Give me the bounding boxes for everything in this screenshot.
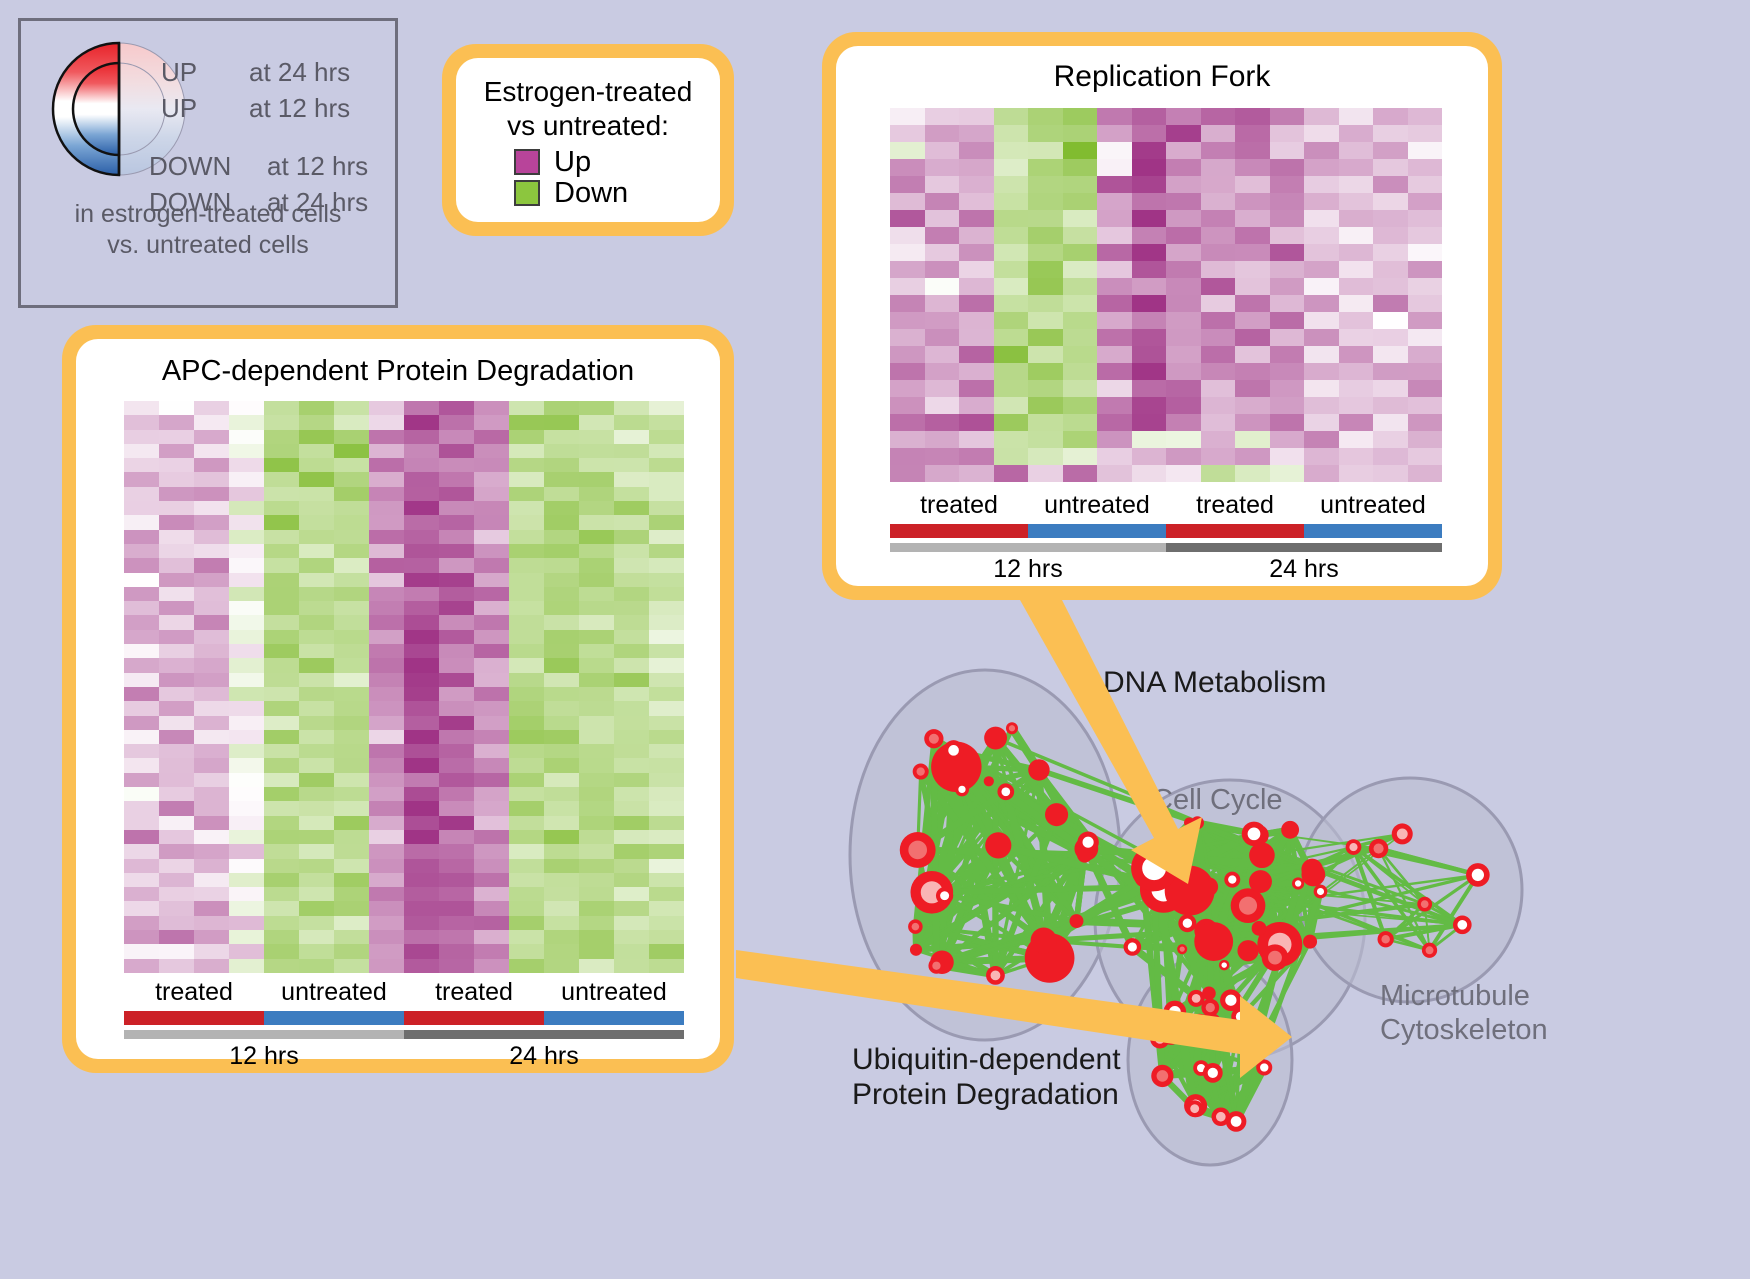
network-node-core (1239, 897, 1257, 915)
heatmap-cell (1166, 142, 1201, 159)
heatmap-cell (579, 544, 614, 558)
heatmap-cell (439, 615, 474, 629)
heatmap-cell (1166, 193, 1201, 210)
heatmap-cell (1166, 346, 1201, 363)
heatmap-cell (1063, 295, 1098, 312)
heatmap-cell (124, 573, 159, 587)
heatmap-cell (614, 744, 649, 758)
heatmap-cell (925, 465, 960, 482)
heatmap-cell (194, 744, 229, 758)
column-group-label: treated (404, 979, 544, 1007)
heatmap-cell (194, 758, 229, 772)
heatmap-cell (544, 930, 579, 944)
network-node[interactable] (984, 727, 1007, 750)
treatment-bar-segment (124, 1011, 264, 1025)
heatmap-cell (925, 346, 960, 363)
heatmap-cell (124, 644, 159, 658)
heatmap-cell (1063, 414, 1098, 431)
heatmap-cell (1373, 108, 1408, 125)
heatmap-cell (1063, 465, 1098, 482)
heatmap-cell (334, 873, 369, 887)
heatmap-cell (299, 930, 334, 944)
network-node[interactable] (1237, 940, 1258, 961)
heatmap-cell (579, 730, 614, 744)
heatmap-cell (159, 887, 194, 901)
heatmap-cell (649, 787, 684, 801)
heatmap-cell (439, 573, 474, 587)
heatmap-cell (369, 458, 404, 472)
heatmap-cell (334, 430, 369, 444)
heatmap-cell (264, 401, 299, 415)
heatmap-cell (404, 816, 439, 830)
heatmap-cell (439, 859, 474, 873)
heatmap-cell (544, 487, 579, 501)
color-key-box: UP at 24 hrs UP at 12 hrs DOWN at 12 hrs… (18, 18, 398, 308)
heatmap-cell (1201, 244, 1236, 261)
network-node[interactable] (1028, 759, 1049, 780)
heatmap-cell (1063, 431, 1098, 448)
heatmap-cell (994, 414, 1029, 431)
heatmap-cell (334, 615, 369, 629)
heatmap-cell (579, 701, 614, 715)
heatmap-cell (1063, 108, 1098, 125)
heatmap-cell (614, 573, 649, 587)
network-node-core (1190, 1104, 1199, 1113)
heatmap-cell (194, 444, 229, 458)
time-bar-segment (404, 1030, 684, 1039)
heatmap-cell (299, 959, 334, 973)
heatmap-cell (439, 658, 474, 672)
heatmap-cell (299, 701, 334, 715)
network-node[interactable] (910, 944, 922, 956)
heatmap-cell (890, 108, 925, 125)
heatmap-cell (544, 801, 579, 815)
heatmap-cell (1270, 227, 1305, 244)
heatmap-cell (1201, 329, 1236, 346)
heatmap-cell (1028, 448, 1063, 465)
heatmap-cell (1235, 465, 1270, 482)
heatmap-cell (334, 859, 369, 873)
heatmap-cell (334, 401, 369, 415)
heatmap-cell (890, 312, 925, 329)
heatmap-cell (959, 108, 994, 125)
heatmap-cell (369, 444, 404, 458)
heatmap-cell (369, 916, 404, 930)
heatmap-cell (229, 501, 264, 515)
heatmap-cell (404, 644, 439, 658)
heatmap-cell (509, 515, 544, 529)
network-node[interactable] (1281, 821, 1299, 839)
heatmap-cell (509, 487, 544, 501)
heatmap-cell (1373, 227, 1408, 244)
heatmap-cell (649, 515, 684, 529)
treatment-bar-segment (1028, 524, 1166, 538)
heatmap-cell (229, 430, 264, 444)
network-node[interactable] (1069, 914, 1083, 928)
heatmap-cell (299, 873, 334, 887)
heatmap-cell (334, 658, 369, 672)
heatmap-cell (474, 901, 509, 915)
network-node[interactable] (1249, 842, 1275, 868)
heatmap-cell (579, 930, 614, 944)
heatmap-cell (474, 458, 509, 472)
network-node[interactable] (985, 832, 1011, 858)
heatmap-cell (369, 430, 404, 444)
heatmap-cell (614, 773, 649, 787)
heatmap-cell (264, 515, 299, 529)
heatmap-cell (994, 397, 1029, 414)
heatmap-cell (369, 787, 404, 801)
heatmap-cell (1132, 142, 1167, 159)
heatmap-cell (1408, 210, 1443, 227)
heatmap-cell (1270, 448, 1305, 465)
heatmap-cell (614, 458, 649, 472)
heatmap-cell (890, 125, 925, 142)
heatmap-cell (544, 430, 579, 444)
heatmap-cell (649, 901, 684, 915)
heatmap-cell (1132, 125, 1167, 142)
heatmap-cell (994, 295, 1029, 312)
heatmap-cell (509, 844, 544, 858)
heatmap-cell (890, 244, 925, 261)
heatmap-cell (264, 644, 299, 658)
heatmap-cell (159, 658, 194, 672)
heatmap-cell (194, 587, 229, 601)
heatmap-cell (1063, 380, 1098, 397)
heatmap-cell (614, 730, 649, 744)
heatmap-cell (264, 887, 299, 901)
heatmap-cell (890, 227, 925, 244)
network-node-core (1001, 787, 1010, 796)
heatmap-cell (369, 587, 404, 601)
heatmap-cell (994, 210, 1029, 227)
heatmap-cell (579, 830, 614, 844)
heatmap-cell (1063, 176, 1098, 193)
heatmap-cell (439, 701, 474, 715)
heatmap-cell (579, 644, 614, 658)
heatmap-cell (509, 716, 544, 730)
heatmap-cell (959, 380, 994, 397)
heatmap-cell (404, 587, 439, 601)
heatmap-cell (474, 673, 509, 687)
network-node[interactable] (1303, 935, 1317, 949)
heatmap-cell (1270, 193, 1305, 210)
heatmap-cell (509, 530, 544, 544)
heatmap-cell (264, 959, 299, 973)
heatmap-cell (959, 244, 994, 261)
heatmap-cell (1201, 397, 1236, 414)
heatmap-cell (1408, 329, 1443, 346)
heatmap-cell (1408, 108, 1443, 125)
heatmap-cell (264, 730, 299, 744)
heatmap-cell (334, 944, 369, 958)
heatmap-cell (1235, 142, 1270, 159)
heatmap-cell (925, 261, 960, 278)
heatmap-cell (579, 916, 614, 930)
heatmap-cell (299, 859, 334, 873)
network-node[interactable] (1045, 803, 1068, 826)
heatmap-cell (1132, 312, 1167, 329)
heatmap-cell (1097, 210, 1132, 227)
heatmap-cell (544, 716, 579, 730)
heatmap-cell (1235, 363, 1270, 380)
heatmap-cell (194, 859, 229, 873)
heatmap-cell (1132, 295, 1167, 312)
heatmap-cell (229, 444, 264, 458)
heatmap-cell (1270, 329, 1305, 346)
network-node[interactable] (1252, 921, 1267, 936)
heatmap-cell (649, 687, 684, 701)
heatmap-cell (1304, 397, 1339, 414)
heatmap-cell (1339, 295, 1374, 312)
heatmap-cell (959, 227, 994, 244)
heatmap-cell (194, 687, 229, 701)
heatmap-cell (544, 401, 579, 415)
heatmap-cell (334, 558, 369, 572)
key-word-down-12: DOWN (149, 151, 231, 182)
heatmap-cell (614, 630, 649, 644)
heatmap-cell (994, 329, 1029, 346)
heatmap-cell (194, 887, 229, 901)
treatment-color-bar (124, 1011, 684, 1025)
network-node[interactable] (1301, 859, 1322, 880)
heatmap-cell (1235, 346, 1270, 363)
heatmap-cell (614, 930, 649, 944)
heatmap-cell (1339, 142, 1374, 159)
heatmap-cell (159, 415, 194, 429)
heatmap-cell (1373, 363, 1408, 380)
heatmap-cell (369, 630, 404, 644)
heatmap-cell (649, 801, 684, 815)
network-node[interactable] (1031, 927, 1057, 953)
heatmap-cell (334, 701, 369, 715)
heatmap-cell (1235, 414, 1270, 431)
heatmap-cell (159, 615, 194, 629)
heatmap-cell (544, 830, 579, 844)
heatmap-cell (439, 959, 474, 973)
heatmap-cell (1132, 278, 1167, 295)
heatmap-cell (369, 515, 404, 529)
heatmap-cell (579, 716, 614, 730)
heatmap-cell (1408, 227, 1443, 244)
figure-stage: UP at 24 hrs UP at 12 hrs DOWN at 12 hrs… (0, 0, 1750, 1279)
heatmap-cell (264, 701, 299, 715)
heatmap-cell (404, 730, 439, 744)
heatmap-cell (159, 701, 194, 715)
heatmap-cell (649, 573, 684, 587)
color-key-footer: in estrogen-treated cells vs. untreated … (21, 199, 395, 262)
heatmap-cell (1132, 210, 1167, 227)
heatmap-cell (614, 830, 649, 844)
heatmap-cell (124, 530, 159, 544)
replication-fork-heatmap (890, 108, 1442, 482)
network-node-core (1157, 1070, 1169, 1082)
heatmap-cell (124, 816, 159, 830)
column-group-label: treated (890, 492, 1028, 520)
network-node-core (1317, 888, 1324, 895)
key-word-up-24: UP (161, 57, 197, 88)
heatmap-cell (159, 730, 194, 744)
heatmap-cell (925, 193, 960, 210)
heatmap-cell (229, 901, 264, 915)
heatmap-cell (1339, 159, 1374, 176)
heatmap-cell (1132, 108, 1167, 125)
heatmap-cell (1408, 176, 1443, 193)
network-node[interactable] (1249, 870, 1272, 893)
heatmap-cell (439, 601, 474, 615)
heatmap-cell (474, 615, 509, 629)
heatmap-cell (614, 615, 649, 629)
heatmap-cell (1028, 431, 1063, 448)
network-node-core (1268, 951, 1282, 965)
key-time-down-12: at 12 hrs (267, 151, 368, 182)
heatmap-cell (1235, 295, 1270, 312)
heatmap-cell (474, 716, 509, 730)
network-node-core (1231, 1116, 1242, 1127)
heatmap-cell (124, 487, 159, 501)
column-group-label: treated (124, 979, 264, 1007)
heatmap-cell (994, 431, 1029, 448)
heatmap-cell (579, 601, 614, 615)
heatmap-cell (194, 430, 229, 444)
heatmap-cell (404, 430, 439, 444)
heatmap-cell (369, 615, 404, 629)
heatmap-cell (264, 816, 299, 830)
heatmap-cell (124, 673, 159, 687)
heatmap-cell (439, 930, 474, 944)
time-bar-segment (1166, 543, 1442, 552)
heatmap-cell (124, 430, 159, 444)
network-node[interactable] (1191, 816, 1204, 829)
heatmap-cell (579, 658, 614, 672)
pathway-network-graph (770, 600, 1750, 1279)
heatmap-cell (439, 816, 474, 830)
heatmap-cell (614, 859, 649, 873)
network-node-core (940, 891, 949, 900)
network-node-core (1225, 995, 1236, 1006)
heatmap-cell (544, 701, 579, 715)
heatmap-cell (474, 687, 509, 701)
heatmap-cell (649, 430, 684, 444)
replication-fork-title: Replication Fork (836, 46, 1488, 104)
heatmap-cell (1235, 261, 1270, 278)
heatmap-cell (544, 458, 579, 472)
network-node-core (929, 734, 939, 744)
heatmap-cell (509, 587, 544, 601)
heatmap-cell (299, 630, 334, 644)
heatmap-cell (299, 544, 334, 558)
heatmap-cell (1339, 448, 1374, 465)
heatmap-cell (544, 444, 579, 458)
heatmap-cell (994, 244, 1029, 261)
heatmap-cell (229, 601, 264, 615)
heatmap-cell (890, 448, 925, 465)
heatmap-cell (229, 887, 264, 901)
heatmap-cell (959, 363, 994, 380)
heatmap-cell (1373, 278, 1408, 295)
heatmap-cell (439, 887, 474, 901)
heatmap-cell (369, 573, 404, 587)
heatmap-cell (1270, 431, 1305, 448)
heatmap-cell (299, 916, 334, 930)
heatmap-cell (1132, 329, 1167, 346)
heatmap-cell (194, 515, 229, 529)
heatmap-cell (299, 587, 334, 601)
heatmap-cell (544, 859, 579, 873)
heatmap-cell (890, 261, 925, 278)
heatmap-cell (1235, 329, 1270, 346)
heatmap-cell (299, 944, 334, 958)
heatmap-cell (1097, 312, 1132, 329)
heatmap-cell (334, 630, 369, 644)
heatmap-cell (579, 487, 614, 501)
heatmap-cell (649, 458, 684, 472)
heatmap-cell (194, 787, 229, 801)
heatmap-cell (1339, 176, 1374, 193)
heatmap-cell (334, 787, 369, 801)
heatmap-cell (404, 401, 439, 415)
heatmap-cell (1373, 465, 1408, 482)
heatmap-cell (124, 959, 159, 973)
network-node[interactable] (984, 776, 994, 786)
heatmap-cell (579, 515, 614, 529)
heatmap-cell (509, 701, 544, 715)
heatmap-cell (1304, 210, 1339, 227)
heatmap-cell (994, 159, 1029, 176)
heatmap-cell (194, 959, 229, 973)
heatmap-cell (890, 397, 925, 414)
heatmap-cell (1201, 159, 1236, 176)
heatmap-cell (194, 930, 229, 944)
heatmap-cell (1270, 159, 1305, 176)
heatmap-cell (1132, 159, 1167, 176)
key-time-up-12: at 12 hrs (249, 93, 350, 124)
heatmap-cell (124, 601, 159, 615)
heatmap-cell (194, 615, 229, 629)
heatmap-cell (474, 701, 509, 715)
heatmap-cell (404, 530, 439, 544)
heatmap-cell (229, 758, 264, 772)
heatmap-cell (124, 873, 159, 887)
heatmap-cell (439, 901, 474, 915)
legend-label-down: Down (554, 179, 628, 208)
heatmap-cell (124, 444, 159, 458)
heatmap-cell (1304, 295, 1339, 312)
treatment-bar-segment (544, 1011, 684, 1025)
heatmap-cell (264, 873, 299, 887)
heatmap-cell (194, 558, 229, 572)
heatmap-cell (1235, 210, 1270, 227)
heatmap-cell (1132, 448, 1167, 465)
color-key-footer-line2: vs. untreated cells (21, 230, 395, 261)
network-node[interactable] (1194, 922, 1233, 961)
heatmap-cell (404, 472, 439, 486)
heatmap-cell (1270, 261, 1305, 278)
heatmap-cell (299, 801, 334, 815)
heatmap-cell (925, 380, 960, 397)
heatmap-cell (404, 687, 439, 701)
network-node-core (1180, 947, 1185, 952)
heatmap-cell (1166, 210, 1201, 227)
heatmap-cell (1408, 261, 1443, 278)
heatmap-cell (124, 730, 159, 744)
heatmap-cell (1201, 312, 1236, 329)
heatmap-cell (649, 930, 684, 944)
heatmap-cell (404, 658, 439, 672)
heatmap-cell (925, 414, 960, 431)
network-node-core (1164, 844, 1171, 851)
heatmap-cell (334, 744, 369, 758)
